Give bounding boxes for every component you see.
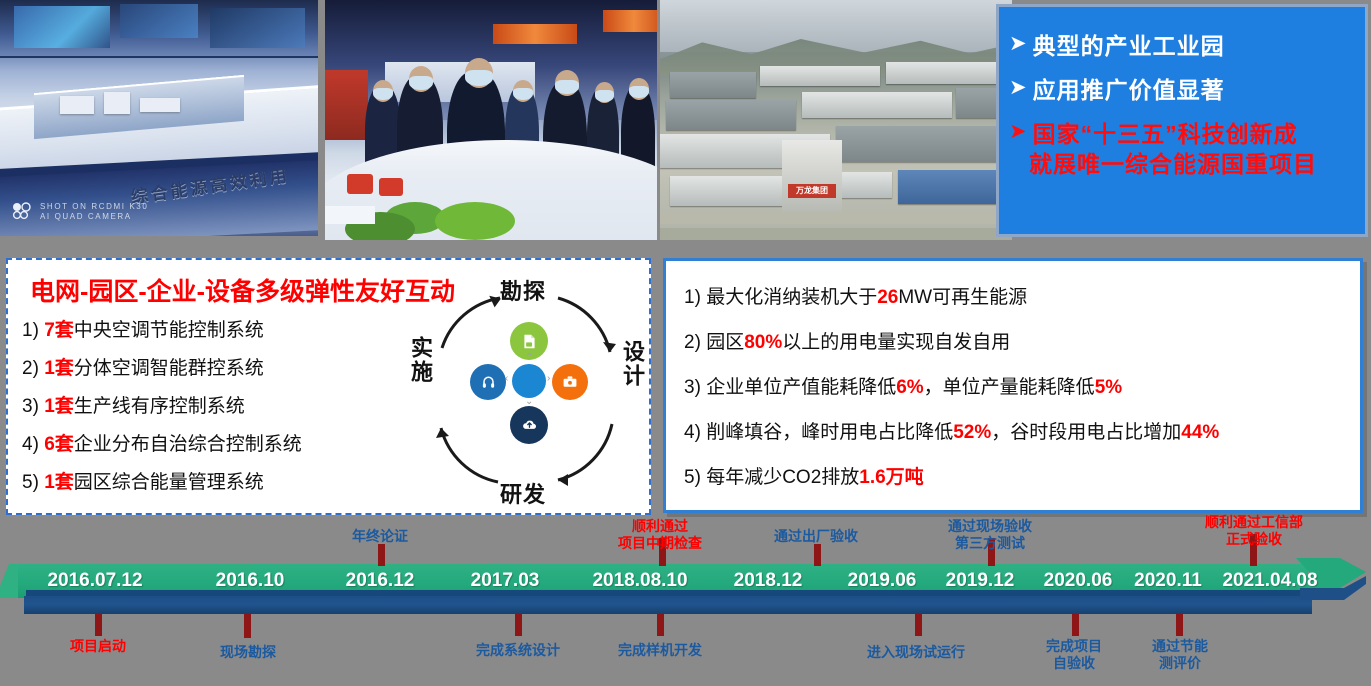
photo3-factory-roof bbox=[670, 72, 756, 98]
timeline-event-below: 完成项目 自验收 bbox=[1016, 638, 1132, 672]
item-text: 企业分布自治综合控制系统 bbox=[74, 434, 302, 455]
photo2-face-mask bbox=[465, 70, 493, 86]
right-panel-list: 1) 最大化消纳装机大于26MW可再生能源 2) 园区80%以上的用电量实现自发… bbox=[666, 261, 1360, 500]
event-line: 年终论证 bbox=[318, 528, 442, 545]
item-text-b: ，谷时段用电占比增加 bbox=[991, 422, 1181, 443]
chevron-right-icon: ➤ bbox=[1009, 119, 1027, 142]
chevron-down-icon: ⌄ bbox=[525, 396, 533, 407]
photo2-face-mask bbox=[629, 86, 649, 98]
cloud-upload-icon bbox=[510, 406, 548, 444]
timeline-tick-below bbox=[515, 614, 522, 636]
item-text: 生产线有序控制系统 bbox=[74, 396, 245, 417]
photo1-model-block bbox=[140, 98, 180, 112]
callout-bullet-3: ➤ 国家“十三五”科技创新成 bbox=[999, 119, 1365, 149]
timeline-date: 2020.11 bbox=[1118, 564, 1218, 598]
event-line: 完成系统设计 bbox=[458, 642, 578, 659]
process-cycle-diagram: 勘探 设计 研发 实施 ⌃ ⌄ ‹ › bbox=[408, 278, 646, 503]
list-item: 3) 1套生产线有序控制系统 bbox=[22, 388, 408, 426]
photo3-factory-roof bbox=[836, 126, 1012, 162]
item-highlight-a: 1.6万吨 bbox=[859, 467, 923, 488]
camera-watermark-icon bbox=[12, 202, 34, 220]
item-text-a: 削峰填谷，峰时用电占比降低 bbox=[706, 422, 953, 443]
timeline-tick-below bbox=[95, 614, 102, 636]
event-line: 第三方测试 bbox=[930, 535, 1050, 552]
callout-bullet-2-text: 应用推广价值显著 bbox=[1033, 75, 1225, 105]
callout-bullet-3-text-cont: 就展唯一综合能源国重项目 bbox=[999, 149, 1365, 179]
photo2-face-mask bbox=[555, 80, 579, 94]
photo1-screen-a bbox=[14, 6, 110, 48]
item-qty: 7套 bbox=[44, 320, 74, 341]
photo3-road bbox=[660, 228, 1012, 240]
item-number: 2) bbox=[684, 332, 701, 353]
left-panel-list: 1) 7套中央空调节能控制系统 2) 1套分体空调智能群控系统 3) 1套生产线… bbox=[8, 312, 408, 502]
photo2-led-banner bbox=[603, 10, 657, 32]
event-line: 测评价 bbox=[1122, 655, 1238, 672]
timeline-event-below: 通过节能 测评价 bbox=[1122, 638, 1238, 672]
item-text-b: ，单位产量能耗降低 bbox=[924, 377, 1095, 398]
chevron-left-icon: ‹ bbox=[505, 373, 508, 384]
item-text-b: 以上的用电量实现自发自用 bbox=[782, 332, 1010, 353]
photo2-model-marker bbox=[379, 178, 403, 196]
list-item: 5) 每年减少CO2排放1.6万吨 bbox=[684, 455, 1360, 500]
item-number: 2) bbox=[22, 358, 39, 379]
photo2-model-marker bbox=[347, 174, 373, 194]
item-text-a: 每年减少CO2排放 bbox=[706, 467, 859, 488]
photo2-red-banner bbox=[325, 70, 368, 140]
timeline-tick-above bbox=[378, 544, 385, 566]
timeline-event-above: 顺利通过工信部 正式验收 bbox=[1186, 514, 1322, 548]
photo3-sign-text: 万龙集团 bbox=[788, 184, 836, 198]
center-node-icon bbox=[512, 364, 546, 398]
list-item: 2) 园区80%以上的用电量实现自发自用 bbox=[684, 320, 1360, 365]
item-text-a: 园区 bbox=[706, 332, 744, 353]
photo1-screen-c bbox=[210, 8, 305, 48]
item-qty: 1套 bbox=[44, 396, 74, 417]
timeline-date: 2016.12 bbox=[330, 564, 430, 598]
watermark-line-1: SHOT ON RCDMI K30 bbox=[40, 202, 148, 212]
exhibition-hall-model-photo: 综合能源高效利用 SHOT ON RCDMI K30 AI QUAD CAMER… bbox=[0, 0, 318, 236]
item-number: 3) bbox=[22, 396, 39, 417]
event-line: 完成项目 bbox=[1016, 638, 1132, 655]
chevron-right-icon: › bbox=[547, 373, 550, 384]
aerial-view-industrial-park-photo: 万龙集团 bbox=[660, 0, 1012, 240]
cycle-label-bottom: 研发 bbox=[500, 477, 546, 509]
event-line: 完成样机开发 bbox=[600, 642, 720, 659]
timeline-date-labels: 2016.07.12 2016.10 2016.12 2017.03 2018.… bbox=[0, 564, 1371, 598]
cycle-label-right: 设计 bbox=[616, 340, 648, 388]
callout-bullet-3-text: 国家“十三五”科技创新成 bbox=[1033, 119, 1298, 149]
item-text: 中央空调节能控制系统 bbox=[74, 320, 264, 341]
leaders-visiting-exhibition-photo bbox=[325, 0, 657, 240]
item-text-a: 最大化消纳装机大于 bbox=[706, 287, 877, 308]
cycle-label-left: 实施 bbox=[404, 336, 436, 384]
timeline-event-above: 通过出厂验收 bbox=[756, 528, 876, 545]
timeline-tick-below bbox=[1072, 614, 1079, 636]
item-qty: 1套 bbox=[44, 358, 74, 379]
timeline-event-above: 顺利通过 项目中期检查 bbox=[600, 518, 720, 552]
timeline-event-below: 项目启动 bbox=[38, 638, 158, 655]
timeline-date: 2016.10 bbox=[200, 564, 300, 598]
photo1-model-block bbox=[60, 96, 94, 114]
photo2-face-mask bbox=[513, 88, 533, 100]
timeline-event-below: 进入现场试运行 bbox=[848, 644, 984, 661]
timeline-date: 2019.12 bbox=[930, 564, 1030, 598]
photo3-factory-roof bbox=[666, 100, 796, 130]
callout-bullet-1-text: 典型的产业工业园 bbox=[1033, 31, 1225, 61]
photo3-blue-roof bbox=[898, 170, 1012, 204]
item-highlight-a: 6% bbox=[896, 377, 923, 398]
timeline-date: 2019.06 bbox=[832, 564, 932, 598]
timeline-date: 2021.04.08 bbox=[1210, 564, 1330, 598]
item-text: 园区综合能量管理系统 bbox=[74, 472, 264, 493]
event-line: 项目中期检查 bbox=[600, 535, 720, 552]
item-text-b: MW可再生能源 bbox=[898, 287, 1027, 308]
photo3-tall-building bbox=[782, 140, 842, 214]
cycle-label-top: 勘探 bbox=[500, 274, 546, 306]
timeline-event-below: 完成样机开发 bbox=[600, 642, 720, 659]
photo3-factory-roof bbox=[802, 92, 952, 118]
timeline-tick-below bbox=[1176, 614, 1183, 636]
callout-bullet-1: ➤ 典型的产业工业园 bbox=[999, 31, 1365, 61]
list-item: 2) 1套分体空调智能群控系统 bbox=[22, 350, 408, 388]
event-line: 顺利通过工信部 bbox=[1186, 514, 1322, 531]
timeline-tick-below bbox=[657, 614, 664, 636]
timeline-date: 2018.12 bbox=[718, 564, 818, 598]
photo2-led-banner bbox=[493, 24, 577, 44]
project-timeline: 2016.07.12 2016.10 2016.12 2017.03 2018.… bbox=[0, 520, 1371, 686]
event-line: 项目启动 bbox=[38, 638, 158, 655]
item-text-a: 企业单位产值能耗降低 bbox=[706, 377, 896, 398]
photo1-watermark: SHOT ON RCDMI K30 AI QUAD CAMERA bbox=[40, 202, 148, 222]
item-highlight-b: 5% bbox=[1095, 377, 1122, 398]
event-line: 进入现场试运行 bbox=[848, 644, 984, 661]
event-line: 正式验收 bbox=[1186, 531, 1322, 548]
item-number: 1) bbox=[684, 287, 701, 308]
list-item: 3) 企业单位产值能耗降低6%，单位产量能耗降低5% bbox=[684, 365, 1360, 410]
event-line: 自验收 bbox=[1016, 655, 1132, 672]
photo2-face-mask bbox=[373, 88, 393, 100]
event-line: 通过出厂验收 bbox=[756, 528, 876, 545]
timeline-tick-below bbox=[915, 614, 922, 636]
item-highlight-b: 44% bbox=[1181, 422, 1219, 443]
timeline-bar-shadow bbox=[24, 596, 1312, 614]
timeline-date: 2020.06 bbox=[1028, 564, 1128, 598]
event-line: 通过现场验收 bbox=[930, 518, 1050, 535]
timeline-event-above: 通过现场验收 第三方测试 bbox=[930, 518, 1050, 552]
item-highlight-a: 26 bbox=[877, 287, 898, 308]
chevron-right-icon: ➤ bbox=[1009, 31, 1027, 54]
timeline-event-above: 年终论证 bbox=[318, 528, 442, 545]
photo2-model-building bbox=[325, 206, 375, 224]
item-number: 5) bbox=[22, 472, 39, 493]
timeline-date: 2018.08.10 bbox=[580, 564, 700, 598]
item-qty: 6套 bbox=[44, 434, 74, 455]
event-line: 顺利通过 bbox=[600, 518, 720, 535]
chevron-up-icon: ⌃ bbox=[525, 352, 533, 363]
item-number: 3) bbox=[684, 377, 701, 398]
item-number: 4) bbox=[22, 434, 39, 455]
list-item: 4) 6套企业分布自治综合控制系统 bbox=[22, 426, 408, 464]
item-highlight-a: 80% bbox=[744, 332, 782, 353]
photo3-factory-roof bbox=[670, 176, 790, 206]
timeline-tick-below bbox=[244, 614, 251, 638]
photo3-sky bbox=[660, 0, 1012, 52]
callout-bullet-2: ➤ 应用推广价值显著 bbox=[999, 75, 1365, 105]
list-item: 1) 最大化消纳装机大于26MW可再生能源 bbox=[684, 275, 1360, 320]
photo2-model-greenery bbox=[435, 202, 515, 240]
timeline-date: 2016.07.12 bbox=[35, 564, 155, 598]
list-item: 5) 1套园区综合能量管理系统 bbox=[22, 464, 408, 502]
photo3-factory-roof bbox=[886, 62, 996, 84]
item-highlight-a: 52% bbox=[953, 422, 991, 443]
event-line: 现场勘探 bbox=[188, 644, 308, 661]
interaction-systems-panel: 电网-园区-企业-设备多级弹性友好互动 1) 7套中央空调节能控制系统 2) 1… bbox=[6, 258, 651, 515]
watermark-line-2: AI QUAD CAMERA bbox=[40, 212, 148, 222]
item-text: 分体空调智能群控系统 bbox=[74, 358, 264, 379]
photo3-factory-roof bbox=[760, 66, 880, 86]
timeline-event-below: 现场勘探 bbox=[188, 644, 308, 661]
item-number: 4) bbox=[684, 422, 701, 443]
slide-canvas: 综合能源高效利用 SHOT ON RCDMI K30 AI QUAD CAMER… bbox=[0, 0, 1371, 686]
timeline-event-below: 完成系统设计 bbox=[458, 642, 578, 659]
timeline-tick-above bbox=[814, 544, 821, 566]
photo1-model-block bbox=[104, 92, 130, 114]
item-qty: 1套 bbox=[44, 472, 74, 493]
headset-icon bbox=[470, 364, 506, 400]
item-number: 1) bbox=[22, 320, 39, 341]
chevron-right-icon: ➤ bbox=[1009, 75, 1027, 98]
photo3-road bbox=[660, 212, 1012, 224]
photo3-red-sign: 万龙集团 bbox=[788, 184, 836, 198]
key-points-callout: ➤ 典型的产业工业园 ➤ 应用推广价值显著 ➤ 国家“十三五”科技创新成 就展唯… bbox=[996, 4, 1368, 237]
photo2-face-mask bbox=[409, 76, 433, 90]
list-item: 1) 7套中央空调节能控制系统 bbox=[22, 312, 408, 350]
photo2-face-mask bbox=[595, 90, 614, 102]
event-line: 通过节能 bbox=[1122, 638, 1238, 655]
item-number: 5) bbox=[684, 467, 701, 488]
briefcase-icon bbox=[552, 364, 588, 400]
photo1-screen-b bbox=[120, 4, 198, 38]
timeline-date: 2017.03 bbox=[455, 564, 555, 598]
list-item: 4) 削峰填谷，峰时用电占比降低52%，谷时段用电占比增加44% bbox=[684, 410, 1360, 455]
project-outcomes-panel: 1) 最大化消纳装机大于26MW可再生能源 2) 园区80%以上的用电量实现自发… bbox=[663, 258, 1363, 513]
